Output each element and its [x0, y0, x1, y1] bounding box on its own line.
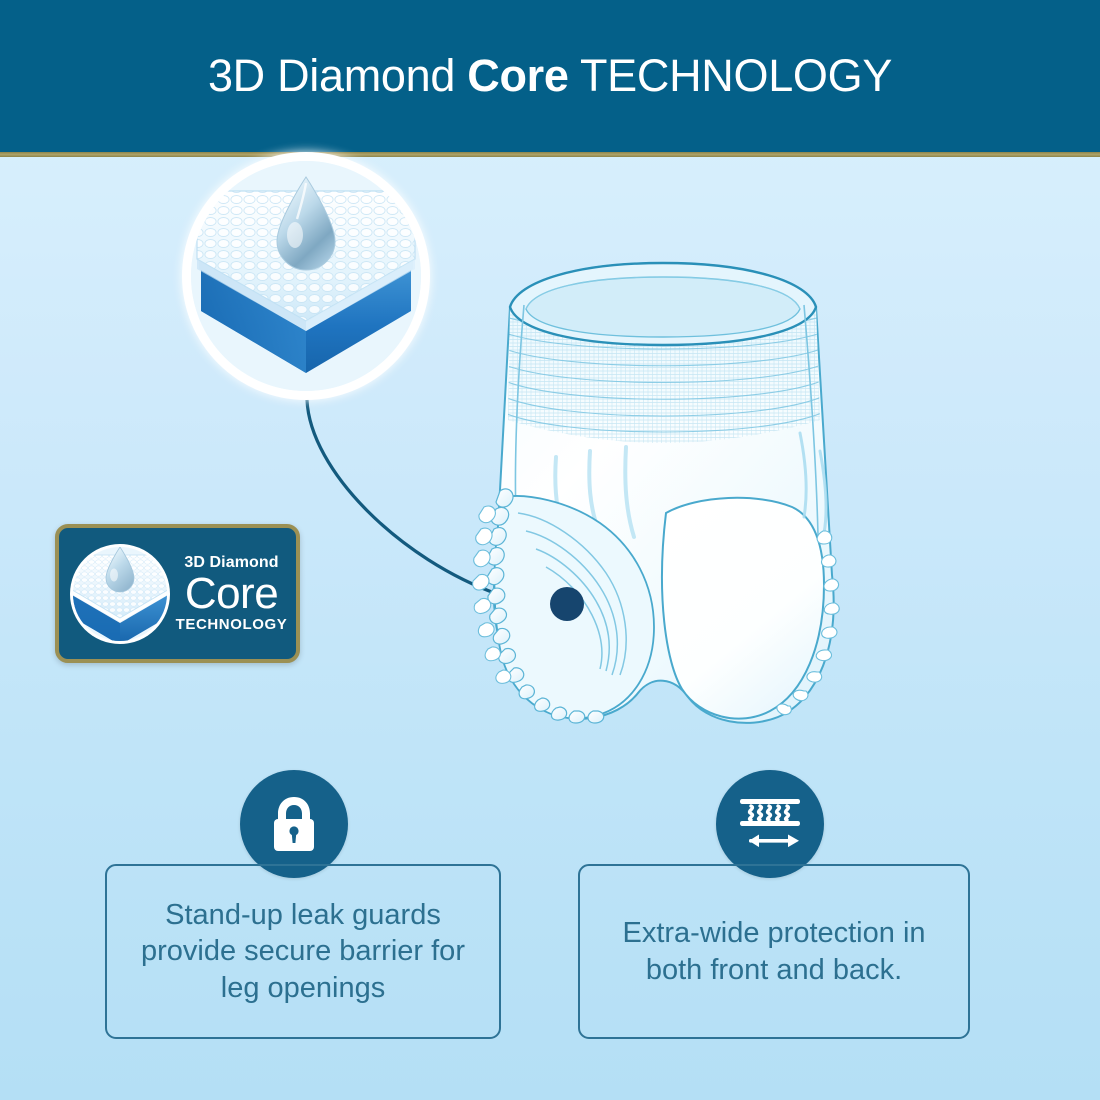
badge-text-block: 3D Diamond Core TECHNOLOGY	[173, 555, 296, 632]
badge-line-3: TECHNOLOGY	[173, 617, 290, 632]
feature-box-extra-wide: Extra-wide protection in both front and …	[578, 864, 970, 1039]
title-part-1: 3D Diamond	[208, 50, 467, 101]
feature-text-extra-wide: Extra-wide protection in both front and …	[580, 915, 968, 988]
feature-icon-circle-width	[716, 770, 824, 878]
infographic-canvas: 3D Diamond Core TECHNOLOGY	[0, 0, 1100, 1100]
leak-guard-callout-dot	[550, 587, 584, 621]
title-part-bold: Core	[467, 50, 568, 101]
title-part-2: TECHNOLOGY	[569, 50, 892, 101]
badge-core-layers-icon	[67, 541, 173, 647]
header-gold-divider	[0, 152, 1100, 157]
feature-box-leak-guards: Stand-up leak guards provide secure barr…	[105, 864, 501, 1039]
badge-line-2: Core	[173, 572, 290, 616]
product-illustration	[448, 245, 878, 740]
core-layers-zoom-icon	[191, 161, 421, 391]
extra-wide-protection-icon	[737, 795, 803, 853]
feature-icon-circle-lock	[240, 770, 348, 878]
core-technology-badge: 3D Diamond Core TECHNOLOGY	[55, 524, 300, 663]
header-banner: 3D Diamond Core TECHNOLOGY	[0, 0, 1100, 152]
lock-icon	[267, 794, 321, 854]
core-zoom-bubble	[182, 152, 430, 400]
page-title: 3D Diamond Core TECHNOLOGY	[208, 50, 892, 102]
feature-text-leak-guards: Stand-up leak guards provide secure barr…	[107, 897, 499, 1007]
zoom-bubble-content	[191, 161, 421, 391]
